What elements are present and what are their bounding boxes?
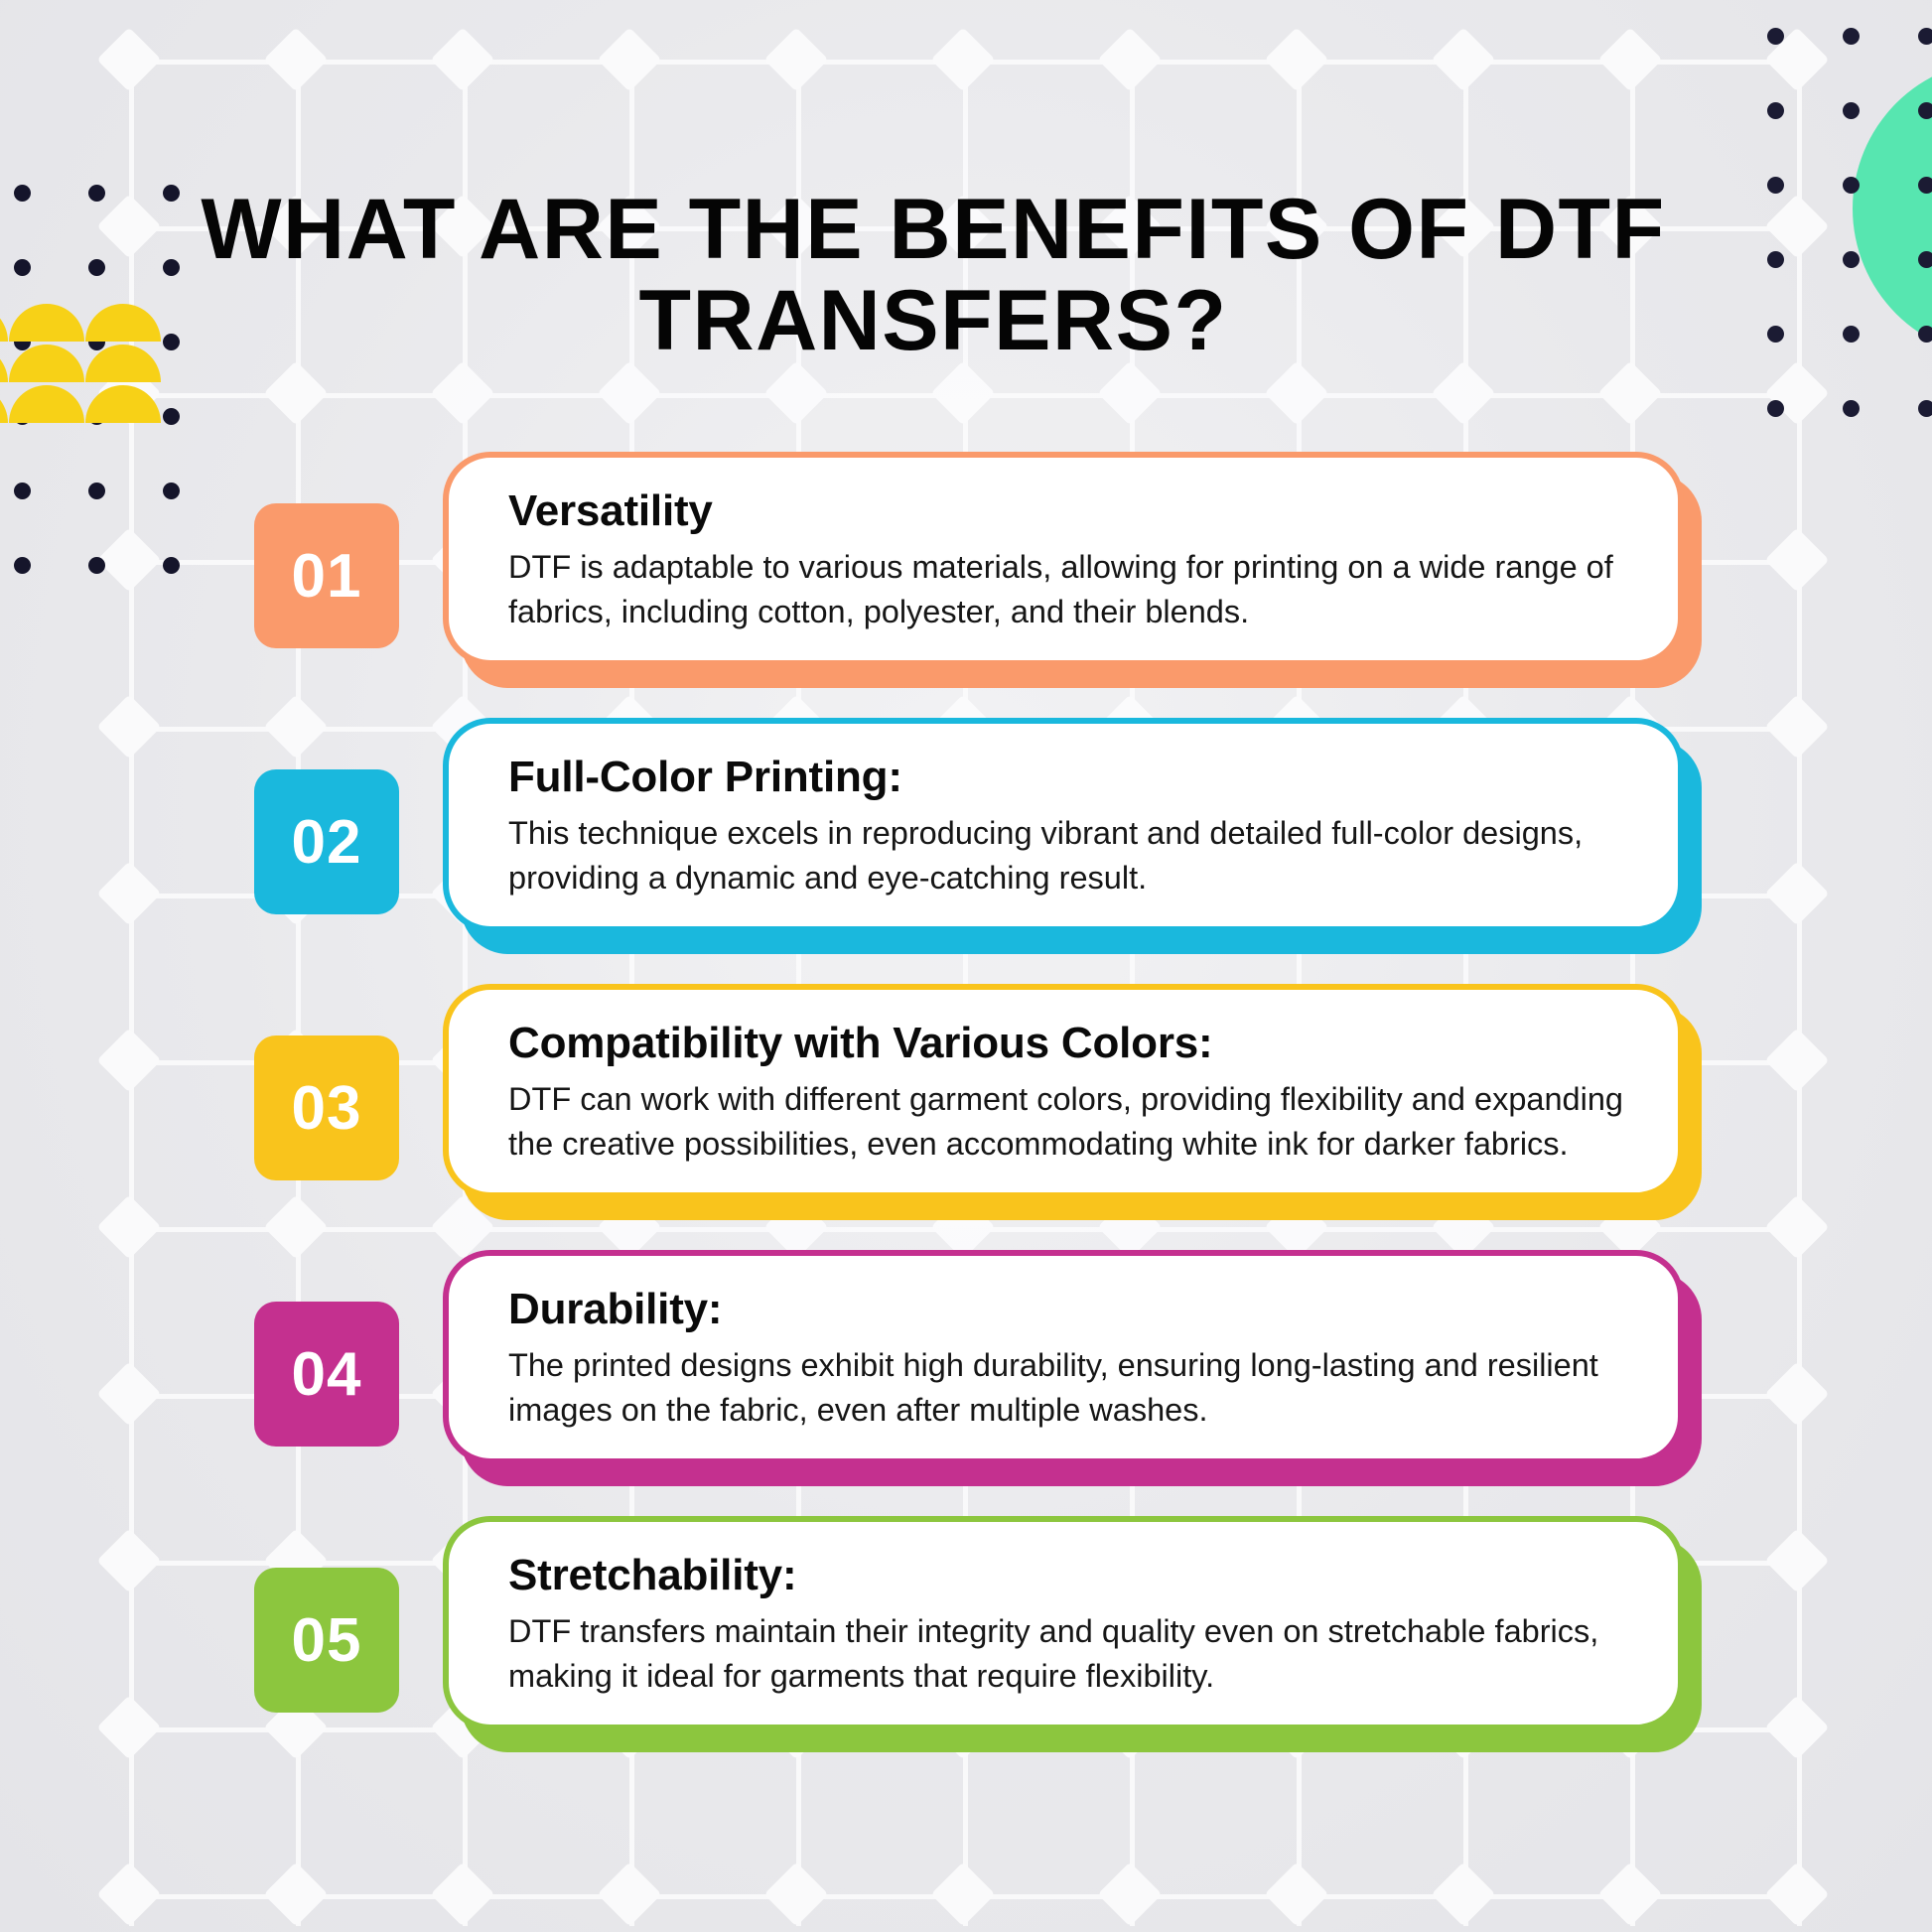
- yellow-dome-shape: [85, 345, 161, 382]
- benefit-description: The printed designs exhibit high durabil…: [508, 1343, 1624, 1431]
- benefit-card-row[interactable]: 04Durability:The printed designs exhibit…: [0, 1250, 1932, 1516]
- grid-node-diamond: [1764, 1862, 1829, 1926]
- benefit-card[interactable]: Full-Color Printing:This technique excel…: [443, 718, 1684, 932]
- decorative-dot: [88, 408, 105, 425]
- grid-node-diamond: [1597, 360, 1662, 425]
- infographic-poster: WHAT ARE THE BENEFITS OF DTF TRANSFERS? …: [0, 0, 1932, 1932]
- page-title: WHAT ARE THE BENEFITS OF DTF TRANSFERS?: [189, 184, 1678, 366]
- card-surface: Stretchability:DTF transfers maintain th…: [443, 1516, 1684, 1730]
- grid-node-diamond: [763, 360, 828, 425]
- mint-circle-decoration: [1853, 60, 1932, 357]
- grid-node-diamond: [1097, 360, 1162, 425]
- grid-node-diamond: [1264, 1862, 1328, 1926]
- grid-node-diamond: [1431, 1862, 1495, 1926]
- grid-node-diamond: [430, 1862, 494, 1926]
- yellow-dome-shape: [85, 385, 161, 423]
- card-surface: VersatilityDTF is adaptable to various m…: [443, 452, 1684, 666]
- benefit-card-row[interactable]: 03Compatibility with Various Colors:DTF …: [0, 984, 1932, 1250]
- decorative-dot: [14, 185, 31, 202]
- grid-node-diamond: [1597, 27, 1662, 91]
- grid-node-diamond: [1264, 27, 1328, 91]
- grid-node-diamond: [263, 27, 328, 91]
- page-title-line-1: WHAT ARE THE BENEFITS OF DTF: [201, 182, 1665, 277]
- grid-node-diamond: [1097, 27, 1162, 91]
- yellow-dome-shape: [0, 385, 8, 423]
- decorative-dot: [88, 259, 105, 276]
- benefit-title: Compatibility with Various Colors:: [508, 1020, 1624, 1067]
- decorative-dot: [1843, 326, 1860, 343]
- decorative-dot: [1918, 400, 1932, 417]
- grid-node-diamond: [763, 27, 828, 91]
- benefit-card-row[interactable]: 05Stretchability:DTF transfers maintain …: [0, 1516, 1932, 1782]
- benefit-title: Stretchability:: [508, 1552, 1624, 1599]
- grid-node-diamond: [96, 194, 161, 258]
- grid-node-diamond: [96, 27, 161, 91]
- decorative-dot: [1918, 28, 1932, 45]
- grid-node-diamond: [1431, 27, 1495, 91]
- decorative-dot: [1767, 177, 1784, 194]
- decorative-dot: [1767, 400, 1784, 417]
- decorative-dot: [163, 259, 180, 276]
- decorative-dot: [1843, 251, 1860, 268]
- grid-node-diamond: [1764, 27, 1829, 91]
- yellow-dome-shape: [9, 304, 84, 342]
- benefit-title: Durability:: [508, 1286, 1624, 1333]
- benefit-card-row[interactable]: 01VersatilityDTF is adaptable to various…: [0, 452, 1932, 718]
- decorative-dot: [1767, 251, 1784, 268]
- decorative-dot: [1767, 102, 1784, 119]
- decorative-dot: [1843, 400, 1860, 417]
- grid-node-diamond: [430, 360, 494, 425]
- benefit-title: Full-Color Printing:: [508, 754, 1624, 801]
- benefit-description: This technique excels in reproducing vib…: [508, 811, 1624, 898]
- page-title-line-2: TRANSFERS?: [638, 273, 1227, 368]
- benefit-card[interactable]: Stretchability:DTF transfers maintain th…: [443, 1516, 1684, 1730]
- grid-node-diamond: [930, 1862, 995, 1926]
- grid-line-horizontal: [129, 60, 1817, 65]
- decorative-dot: [163, 408, 180, 425]
- decorative-dot: [88, 185, 105, 202]
- benefit-card-row[interactable]: 02Full-Color Printing:This technique exc…: [0, 718, 1932, 984]
- card-surface: Durability:The printed designs exhibit h…: [443, 1250, 1684, 1464]
- yellow-dome-shape: [0, 345, 8, 382]
- decorative-dot: [163, 185, 180, 202]
- grid-node-diamond: [263, 360, 328, 425]
- benefit-number-badge: 01: [254, 503, 399, 648]
- yellow-dome-shape: [0, 304, 8, 342]
- decorative-dot: [1843, 28, 1860, 45]
- grid-node-diamond: [930, 360, 995, 425]
- decorative-dot: [1843, 102, 1860, 119]
- card-surface: Full-Color Printing:This technique excel…: [443, 718, 1684, 932]
- benefit-description: DTF is adaptable to various materials, a…: [508, 545, 1624, 632]
- grid-node-diamond: [597, 27, 661, 91]
- decorative-dot: [163, 334, 180, 350]
- grid-node-diamond: [597, 360, 661, 425]
- grid-node-diamond: [763, 1862, 828, 1926]
- benefit-description: DTF can work with different garment colo…: [508, 1077, 1624, 1165]
- grid-node-diamond: [1264, 360, 1328, 425]
- benefit-card[interactable]: Compatibility with Various Colors:DTF ca…: [443, 984, 1684, 1198]
- grid-line-horizontal: [129, 393, 1817, 398]
- benefit-number-badge: 03: [254, 1035, 399, 1180]
- benefit-number-badge: 04: [254, 1302, 399, 1447]
- grid-node-diamond: [96, 1862, 161, 1926]
- benefit-card[interactable]: VersatilityDTF is adaptable to various m…: [443, 452, 1684, 666]
- grid-node-diamond: [930, 27, 995, 91]
- decorative-dot: [88, 334, 105, 350]
- decorative-dot: [14, 259, 31, 276]
- decorative-dot: [1767, 28, 1784, 45]
- decorative-dot: [14, 334, 31, 350]
- grid-node-diamond: [1431, 360, 1495, 425]
- decorative-dot: [1767, 326, 1784, 343]
- grid-node-diamond: [1597, 1862, 1662, 1926]
- card-surface: Compatibility with Various Colors:DTF ca…: [443, 984, 1684, 1198]
- grid-node-diamond: [1764, 194, 1829, 258]
- grid-node-diamond: [263, 1862, 328, 1926]
- benefit-number-badge: 05: [254, 1568, 399, 1713]
- grid-node-diamond: [1764, 360, 1829, 425]
- grid-node-diamond: [96, 360, 161, 425]
- grid-node-diamond: [430, 27, 494, 91]
- grid-line-horizontal: [129, 1894, 1817, 1899]
- grid-node-diamond: [1097, 1862, 1162, 1926]
- yellow-dome-shape: [85, 304, 161, 342]
- yellow-dome-shape: [9, 345, 84, 382]
- benefit-card[interactable]: Durability:The printed designs exhibit h…: [443, 1250, 1684, 1464]
- yellow-dome-shape: [9, 385, 84, 423]
- benefit-title: Versatility: [508, 487, 1624, 535]
- benefit-card-list: 01VersatilityDTF is adaptable to various…: [0, 452, 1932, 1782]
- benefit-number-badge: 02: [254, 769, 399, 914]
- grid-node-diamond: [597, 1862, 661, 1926]
- benefit-description: DTF transfers maintain their integrity a…: [508, 1609, 1624, 1697]
- yellow-semicircle-cluster: [0, 304, 161, 425]
- decorative-dot: [14, 408, 31, 425]
